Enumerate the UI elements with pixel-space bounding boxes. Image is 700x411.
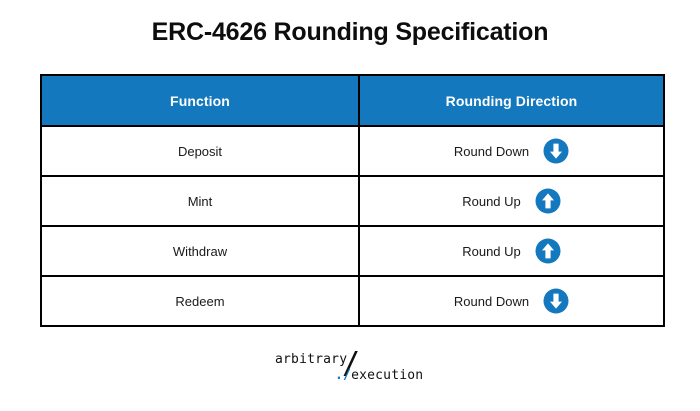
column-header-function: Function	[41, 75, 359, 126]
direction-label: Round Down	[454, 294, 529, 309]
rounding-specification-table: Function Rounding Direction Deposit Roun…	[40, 74, 665, 327]
cell-function-redeem: Redeem	[41, 276, 359, 326]
direction-label: Round Up	[462, 194, 521, 209]
slide-canvas: ERC-4626 Rounding Specification Function…	[0, 0, 700, 411]
brand-logo-top-text: arbitrary	[275, 352, 347, 367]
cell-direction-withdraw: Round Up	[359, 226, 664, 276]
cell-direction-deposit: Round Down	[359, 126, 664, 176]
table-header: Function Rounding Direction	[41, 75, 664, 126]
page-title: ERC-4626 Rounding Specification	[0, 16, 700, 48]
brand-logo-execution-text: execution	[351, 368, 423, 383]
brand-logo-inner: arbitrary / ./execution	[275, 350, 425, 392]
cell-function-mint: Mint	[41, 176, 359, 226]
arrow-down-circle-icon	[543, 288, 569, 314]
arrow-up-circle-icon	[535, 188, 561, 214]
direction-label: Round Down	[454, 144, 529, 159]
cell-direction-mint: Round Up	[359, 176, 664, 226]
column-header-rounding-direction: Rounding Direction	[359, 75, 664, 126]
table-row: Redeem Round Down	[41, 276, 664, 326]
brand-logo-dot-slash: ./	[335, 368, 351, 383]
direction-label: Round Up	[462, 244, 521, 259]
arrow-up-circle-icon	[535, 238, 561, 264]
table-row: Withdraw Round Up	[41, 226, 664, 276]
table-row: Mint Round Up	[41, 176, 664, 226]
table-row: Deposit Round Down	[41, 126, 664, 176]
table-header-row: Function Rounding Direction	[41, 75, 664, 126]
brand-logo-bottom-text: ./execution	[335, 368, 423, 383]
arrow-down-circle-icon	[543, 138, 569, 164]
cell-function-withdraw: Withdraw	[41, 226, 359, 276]
brand-logo: arbitrary / ./execution	[0, 350, 700, 392]
table-body: Deposit Round Down Mint	[41, 126, 664, 326]
cell-direction-redeem: Round Down	[359, 276, 664, 326]
cell-function-deposit: Deposit	[41, 126, 359, 176]
